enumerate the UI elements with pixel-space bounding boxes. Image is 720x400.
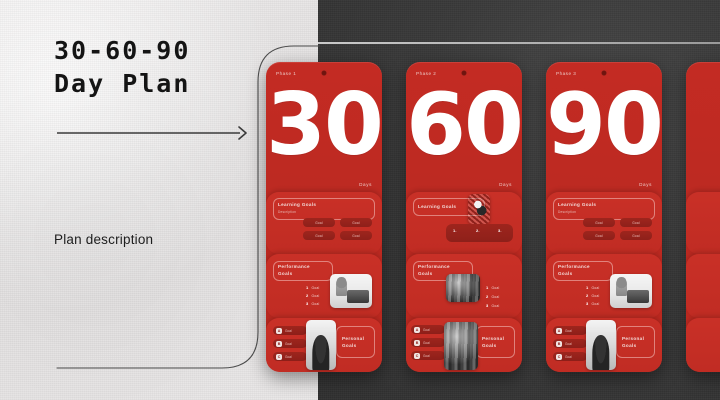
- personal-goal-text: Goal: [423, 341, 430, 345]
- personal-goal-letter: C: [556, 354, 562, 360]
- performance-goals-title-1: Performance: [558, 264, 590, 270]
- learning-goal-chip[interactable]: Goal: [583, 218, 615, 227]
- days-label: Days: [359, 182, 372, 187]
- learning-goal-chip[interactable]: Goal: [620, 231, 652, 240]
- personal-goals-photo: [586, 320, 616, 370]
- personal-goals-outline: [336, 326, 375, 358]
- day-number: 90: [546, 82, 662, 168]
- performance-goal-number: 2: [486, 294, 488, 299]
- top-divider-rule: [318, 42, 720, 44]
- personal-goals-outline: [476, 326, 515, 358]
- days-label: Days: [639, 182, 652, 187]
- performance-goal-number: 1: [586, 285, 588, 290]
- page-title: 30-60-90 Day Plan: [54, 34, 284, 100]
- learning-goal-chip: 3.: [498, 228, 502, 233]
- performance-goal-item[interactable]: 3Goal: [586, 301, 599, 306]
- performance-goal-text: Goal: [491, 286, 499, 290]
- personal-goals-title-2: Goals: [342, 343, 357, 349]
- personal-goal-letter: A: [556, 328, 562, 334]
- learning-goals-photo: [468, 194, 490, 224]
- learning-goals-chip-row[interactable]: 1. 2. 3.: [446, 224, 513, 242]
- day-number: 60: [406, 82, 522, 168]
- performance-goal-item[interactable]: 1Goal: [586, 285, 599, 290]
- personal-goal-item[interactable]: BGoal: [411, 338, 445, 347]
- phone-card-phase-3[interactable]: Phase 3 90 Days Learning Goals Descripti…: [546, 62, 662, 372]
- performance-goals-panel: [686, 254, 720, 318]
- personal-goal-letter: B: [556, 341, 562, 347]
- personal-goal-item[interactable]: AGoal: [553, 326, 587, 335]
- performance-goals-photo: [330, 274, 372, 308]
- performance-goal-text: Goal: [491, 304, 499, 308]
- personal-goal-item[interactable]: CGoal: [411, 351, 445, 360]
- personal-goals-panel[interactable]: Personal Goals AGoal BGoal CGoal: [546, 318, 662, 372]
- personal-goal-text: Goal: [565, 329, 572, 333]
- personal-goal-text: Goal: [423, 354, 430, 358]
- learning-goal-chip[interactable]: Goal: [340, 218, 372, 227]
- personal-goals-title-2: Goals: [482, 343, 497, 349]
- personal-goals-title-1: Personal: [482, 336, 504, 342]
- phone-card-next-partial[interactable]: [686, 62, 720, 372]
- performance-goal-number: 3: [586, 301, 588, 306]
- personal-goal-item[interactable]: BGoal: [553, 339, 587, 348]
- personal-goals-photo: [444, 322, 478, 370]
- performance-goal-text: Goal: [591, 286, 599, 290]
- personal-goal-text: Goal: [565, 342, 572, 346]
- performance-goals-title-2: Goals: [558, 271, 573, 277]
- title-line-1: 30-60-90: [54, 34, 284, 67]
- learning-goals-panel[interactable]: Learning Goals Description Goal Goal Goa…: [546, 192, 662, 254]
- learning-goals-title: Learning Goals: [558, 202, 596, 208]
- personal-goal-item[interactable]: AGoal: [411, 325, 445, 334]
- performance-goal-text: Goal: [591, 294, 599, 298]
- personal-goals-outline: [616, 326, 655, 358]
- personal-goal-text: Goal: [565, 355, 572, 359]
- performance-goals-panel[interactable]: Performance Goals 1Goal 2Goal 3Goal: [546, 254, 662, 318]
- performance-goals-title-2: Goals: [418, 271, 433, 277]
- performance-goal-number: 3: [486, 303, 488, 308]
- personal-goal-letter: B: [414, 340, 420, 346]
- performance-goal-item[interactable]: 2Goal: [586, 293, 599, 298]
- learning-goal-chip: 2.: [476, 228, 480, 233]
- learning-goals-panel: [686, 192, 720, 254]
- phone-card-phase-2[interactable]: Phase 2 60 Days Learning Goals 1. 2. 3. …: [406, 62, 522, 372]
- performance-goals-panel[interactable]: Performance Goals 1Goal 2Goal 3Goal: [406, 254, 522, 318]
- performance-goal-text: Goal: [591, 302, 599, 306]
- personal-goal-letter: C: [414, 353, 420, 359]
- learning-goal-chip[interactable]: Goal: [583, 231, 615, 240]
- personal-goals-title-1: Personal: [622, 336, 644, 342]
- slide-canvas: 30-60-90 Day Plan Plan description Phase…: [0, 0, 720, 400]
- learning-goal-chip: 1.: [453, 228, 457, 233]
- learning-goal-chip[interactable]: Goal: [340, 231, 372, 240]
- performance-goal-item[interactable]: 3Goal: [486, 303, 499, 308]
- personal-goal-text: Goal: [423, 328, 430, 332]
- learning-goals-title: Learning Goals: [418, 204, 456, 210]
- days-label: Days: [499, 182, 512, 187]
- title-line-2: Day Plan: [54, 67, 284, 100]
- performance-goal-number: 2: [586, 293, 588, 298]
- personal-goals-title-1: Personal: [342, 336, 364, 342]
- learning-goals-panel[interactable]: Learning Goals 1. 2. 3.: [406, 192, 522, 254]
- performance-goals-photo: [610, 274, 652, 308]
- performance-goal-number: 1: [486, 285, 488, 290]
- personal-goal-item[interactable]: CGoal: [553, 352, 587, 361]
- personal-goals-title-2: Goals: [622, 343, 637, 349]
- performance-goal-item[interactable]: 1Goal: [486, 285, 499, 290]
- arrow-head-icon: [239, 127, 246, 139]
- plan-description: Plan description: [54, 232, 153, 247]
- personal-goals-panel[interactable]: Personal Goals AGoal BGoal CGoal: [406, 318, 522, 372]
- performance-goal-text: Goal: [491, 295, 499, 299]
- personal-goal-letter: A: [414, 327, 420, 333]
- learning-goal-chip[interactable]: Goal: [620, 218, 652, 227]
- performance-goal-item[interactable]: 2Goal: [486, 294, 499, 299]
- performance-goals-photo: [446, 274, 480, 302]
- learning-goals-subtitle: Description: [558, 210, 576, 214]
- personal-goals-panel: [686, 318, 720, 372]
- performance-goals-title-1: Performance: [418, 264, 450, 270]
